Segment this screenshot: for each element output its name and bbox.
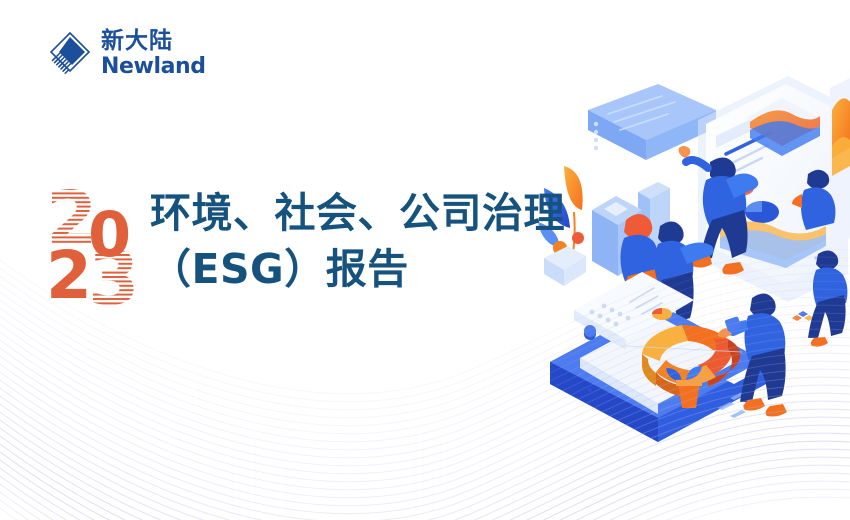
brand-name-en: Newland: [101, 56, 206, 78]
brand-logo: 新大陆 Newland: [48, 30, 206, 78]
year-digit-3-striped: [84, 240, 148, 308]
page-title-line-1: 环境、社会、公司治理: [150, 186, 550, 242]
brand-wordmark: 新大陆 Newland: [101, 30, 206, 78]
page-title: 环境、社会、公司治理 （ESG）报告: [150, 186, 550, 298]
chat-panel-icon: [588, 84, 716, 160]
esg-report-cover: 新大陆 Newland 2 3 0 2 2023: [0, 0, 850, 520]
area-chart-screen-icon: [830, 78, 850, 250]
isometric-esg-teamwork-illustration: [530, 62, 850, 462]
newland-diamond-logo-icon: [48, 30, 92, 78]
page-title-line-2: （ESG）报告: [150, 242, 550, 298]
brand-name-cn: 新大陆: [101, 30, 206, 53]
svg-text:2: 2: [46, 237, 92, 308]
year-badge-2023: 2 3 0 2 2023: [44, 188, 152, 308]
year-digit-2-solid: 2: [46, 237, 92, 308]
